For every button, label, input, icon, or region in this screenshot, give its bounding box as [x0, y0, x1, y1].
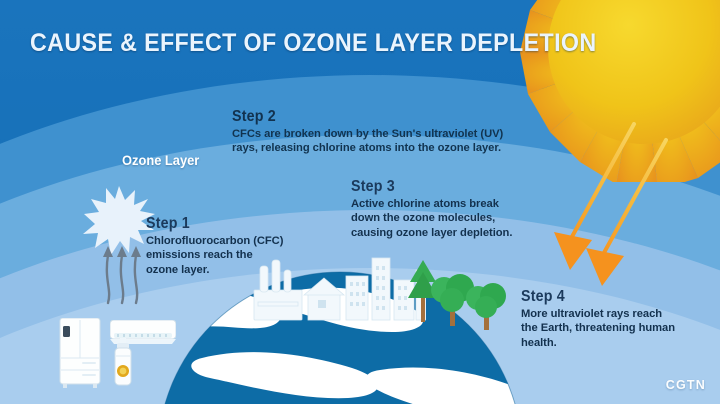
step-2-body: CFCs are broken down by the Sun's ultrav… [232, 127, 503, 155]
step-3-block: Step 3 Active chlorine atoms break down … [351, 179, 512, 240]
step-3-heading: Step 3 [351, 179, 499, 195]
uv-ray-arrows-icon [508, 122, 688, 292]
step-4-body: More ultraviolet rays reach the Earth, t… [521, 307, 675, 350]
refrigerator-icon [58, 318, 102, 388]
step-2-heading: Step 2 [232, 109, 481, 125]
infographic-canvas: CAUSE & EFFECT OF OZONE LAYER DEPLETION … [0, 0, 720, 404]
step-4-block: Step 4 More ultraviolet rays reach the E… [521, 289, 675, 350]
trees-icon [404, 256, 514, 330]
step-2-block: Step 2 CFCs are broken down by the Sun's… [232, 109, 503, 156]
step-1-heading: Step 1 [146, 216, 272, 232]
cgtn-logo: CGTN [666, 378, 706, 392]
step-1-block: Step 1 Chlorofluorocarbon (CFC) emission… [146, 216, 283, 277]
spray-can-icon [113, 338, 133, 386]
step-3-body: Active chlorine atoms break down the ozo… [351, 197, 512, 240]
ozone-layer-label: Ozone Layer [122, 152, 199, 168]
page-title: CAUSE & EFFECT OF OZONE LAYER DEPLETION [30, 29, 597, 58]
step-1-body: Chlorofluorocarbon (CFC) emissions reach… [146, 234, 283, 277]
step-4-heading: Step 4 [521, 289, 663, 305]
